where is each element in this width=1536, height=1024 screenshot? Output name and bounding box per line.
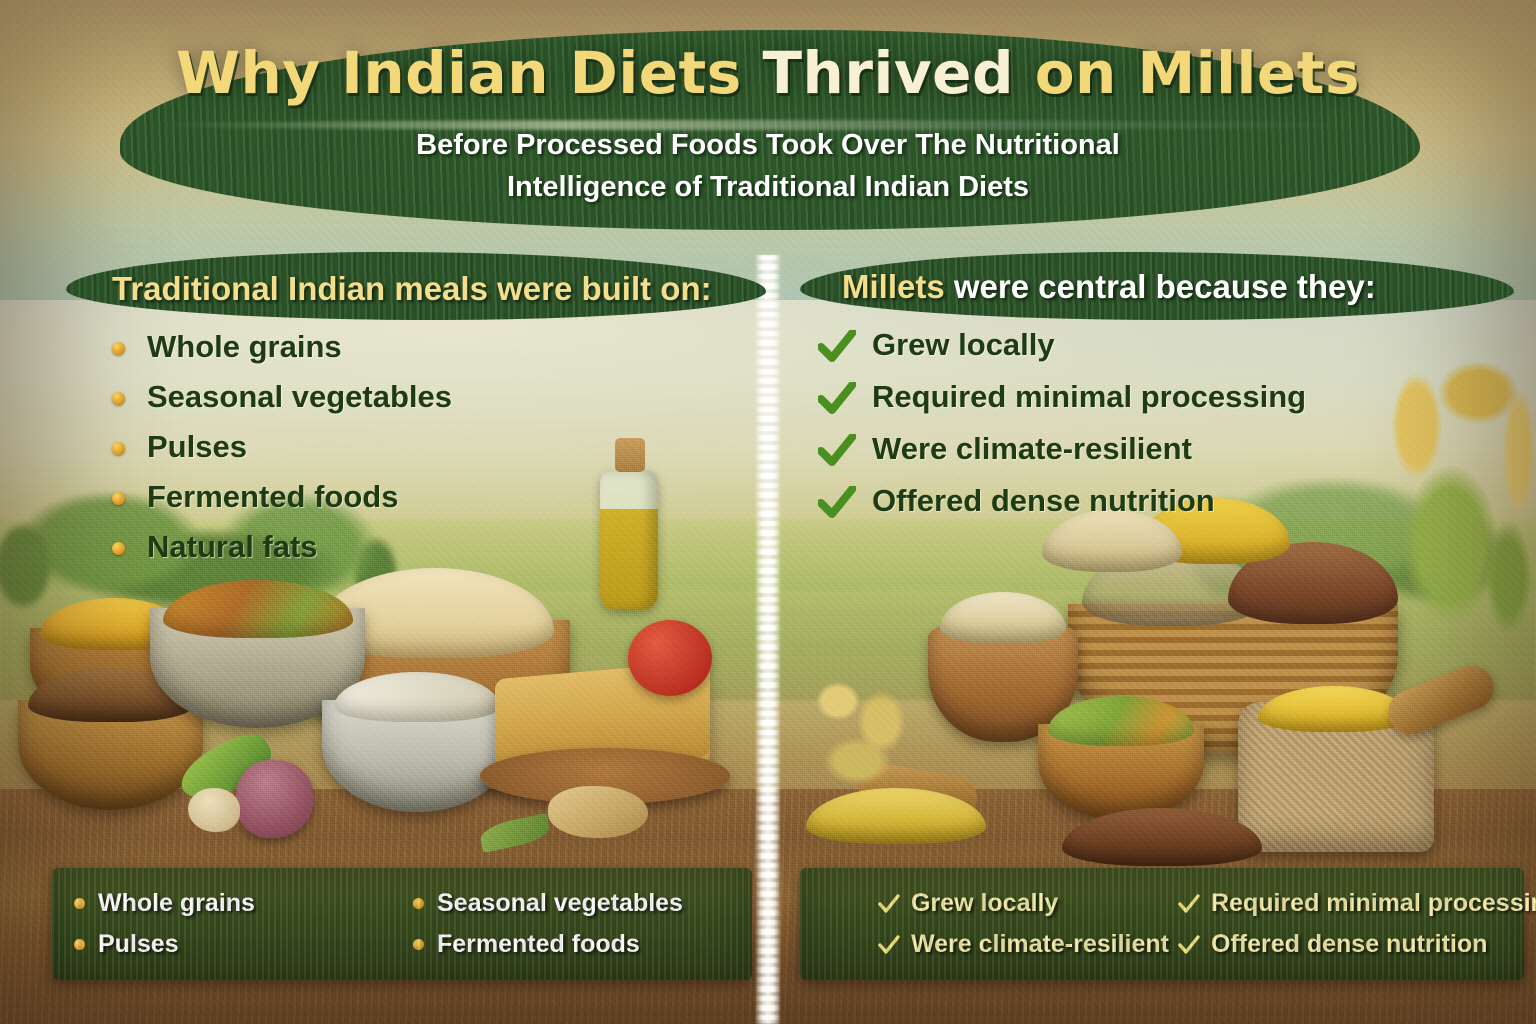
- green-checkmark-icon: [818, 486, 856, 520]
- subtitle-line-2: Intelligence of Traditional Indian Diets: [348, 166, 1188, 208]
- list-item-label: Grew locally: [872, 328, 1055, 362]
- list-item: Offered dense nutrition: [818, 484, 1478, 520]
- footer-item: Fermented foods: [413, 930, 752, 959]
- footer-item: Whole grains: [74, 889, 413, 918]
- title-part-1: Why Indian Diets: [176, 39, 762, 107]
- yellow-checkmark-icon: [878, 935, 900, 955]
- list-item: Required minimal processing: [818, 380, 1478, 416]
- list-item-label: Seasonal vegetables: [147, 380, 452, 414]
- amber-dot-bullet-icon: [112, 342, 125, 355]
- infographic-poster: Why Indian Diets Thrived on Millets Befo…: [0, 0, 1536, 1024]
- green-checkmark-icon: [818, 330, 856, 364]
- subtitle-line-1: Before Processed Foods Took Over The Nut…: [348, 124, 1188, 166]
- amber-dot-bullet-icon: [112, 492, 125, 505]
- amber-dot-bullet-icon: [112, 542, 125, 555]
- list-item: Fermented foods: [112, 480, 712, 514]
- list-item-label: Were climate-resilient: [872, 432, 1192, 466]
- yellow-checkmark-icon: [1178, 935, 1200, 955]
- page-title: Why Indian Diets Thrived on Millets: [0, 44, 1536, 102]
- amber-dot-bullet-icon: [74, 898, 85, 909]
- title-part-3: on Millets: [1035, 39, 1360, 107]
- yellow-checkmark-icon: [1178, 894, 1200, 914]
- list-item: Whole grains: [112, 330, 712, 364]
- list-item-label: Required minimal processing: [872, 380, 1306, 414]
- footer-item: Were climate-resilient: [878, 930, 1178, 959]
- footer-item: Pulses: [74, 930, 413, 959]
- page-subtitle: Before Processed Foods Took Over The Nut…: [348, 124, 1188, 208]
- title-part-2: Thrived: [762, 39, 1034, 107]
- green-checkmark-icon: [818, 382, 856, 416]
- footer-item-label: Seasonal vegetables: [437, 889, 683, 918]
- amber-dot-bullet-icon: [413, 898, 424, 909]
- left-benefits-list: Whole grains Seasonal vegetables Pulses …: [112, 330, 712, 580]
- torn-paper-divider: [755, 255, 781, 1024]
- footer-item: Required minimal processing: [1178, 889, 1536, 918]
- list-item-label: Whole grains: [147, 330, 342, 364]
- footer-item-label: Were climate-resilient: [911, 930, 1169, 959]
- list-item: Were climate-resilient: [818, 432, 1478, 468]
- list-item: Seasonal vegetables: [112, 380, 712, 414]
- list-item: Pulses: [112, 430, 712, 464]
- green-checkmark-icon: [818, 434, 856, 468]
- footer-item: Seasonal vegetables: [413, 889, 752, 918]
- list-item-label: Fermented foods: [147, 480, 398, 514]
- list-item: Grew locally: [818, 328, 1478, 364]
- list-item-label: Natural fats: [147, 530, 318, 564]
- list-item-label: Pulses: [147, 430, 247, 464]
- right-footer-bar: Grew locally Required minimal processing…: [800, 868, 1524, 980]
- right-column-heading: Millets were central because they:: [842, 268, 1376, 306]
- left-footer-bar: Whole grains Seasonal vegetables Pulses …: [52, 868, 752, 980]
- footer-item: Offered dense nutrition: [1178, 930, 1536, 959]
- right-footer-grid: Grew locally Required minimal processing…: [800, 868, 1524, 980]
- right-benefits-list: Grew locally Required minimal processing…: [818, 328, 1478, 536]
- footer-item: Grew locally: [878, 889, 1178, 918]
- amber-dot-bullet-icon: [112, 392, 125, 405]
- amber-dot-bullet-icon: [74, 939, 85, 950]
- footer-item-label: Whole grains: [98, 889, 255, 918]
- footer-item-label: Fermented foods: [437, 930, 640, 959]
- list-item: Natural fats: [112, 530, 712, 564]
- right-heading-highlight: Millets: [842, 268, 945, 305]
- amber-dot-bullet-icon: [413, 939, 424, 950]
- amber-dot-bullet-icon: [112, 442, 125, 455]
- list-item-label: Offered dense nutrition: [872, 484, 1215, 518]
- left-column-heading: Traditional Indian meals were built on:: [112, 270, 712, 308]
- right-heading-rest: were central because they:: [945, 268, 1376, 305]
- footer-item-label: Pulses: [98, 930, 179, 959]
- footer-item-label: Offered dense nutrition: [1211, 930, 1487, 959]
- footer-item-label: Grew locally: [911, 889, 1058, 918]
- yellow-checkmark-icon: [878, 894, 900, 914]
- footer-item-label: Required minimal processing: [1211, 889, 1536, 918]
- title-block: Why Indian Diets Thrived on Millets Befo…: [0, 44, 1536, 208]
- left-footer-grid: Whole grains Seasonal vegetables Pulses …: [52, 868, 752, 980]
